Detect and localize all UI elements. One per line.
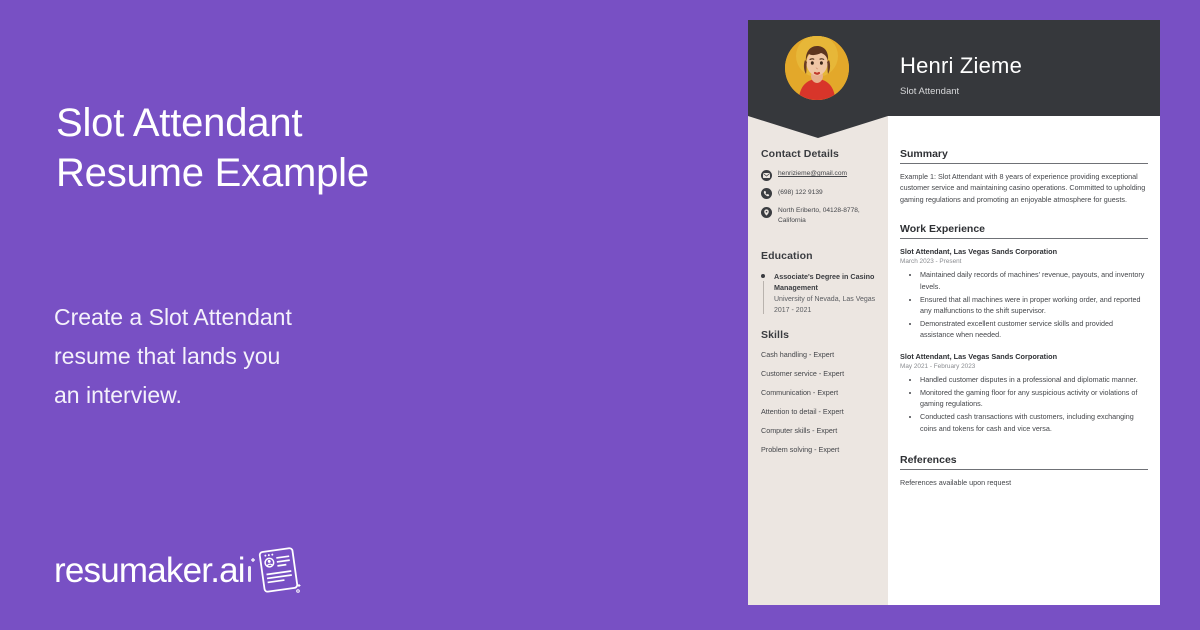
- envelope-icon: [761, 170, 772, 181]
- contact-email-value[interactable]: henrizieme@gmail.com: [778, 169, 847, 179]
- work-experience-entry: Slot Attendant, Las Vegas Sands Corporat…: [900, 246, 1148, 340]
- logo-wordmark: resumaker.ai: [54, 553, 245, 588]
- education-school: University of Nevada, Las Vegas: [774, 294, 879, 305]
- job-bullet: Handled customer disputes in a professio…: [920, 374, 1148, 385]
- education-entry: Associate's Degree in Casino Management …: [761, 271, 879, 316]
- skill-item: Customer service - Expert: [761, 369, 879, 379]
- education-dates: 2017 - 2021: [774, 305, 879, 316]
- resume-name: Henri Zieme: [900, 53, 1022, 79]
- contact-address-value: North Eriberto, 04128-8778, California: [778, 206, 879, 226]
- job-dates: March 2023 - Present: [900, 257, 1148, 267]
- summary-text: Example 1: Slot Attendant with 8 years o…: [900, 171, 1148, 205]
- skill-item: Attention to detail - Expert: [761, 407, 879, 417]
- skill-item: Problem solving - Expert: [761, 445, 879, 455]
- job-bullet: Monitored the gaming floor for any suspi…: [920, 387, 1148, 410]
- contact-email-row[interactable]: henrizieme@gmail.com: [761, 169, 879, 181]
- job-bullet: Demonstrated excellent customer service …: [920, 318, 1148, 341]
- summary-heading: Summary: [900, 148, 1148, 160]
- resume-sidebar-content: Contact Details henrizieme@gmail.com (69…: [761, 148, 879, 464]
- references-text: References available upon request: [900, 477, 1148, 488]
- skill-item: Cash handling - Expert: [761, 350, 879, 360]
- page-title: Slot Attendant Resume Example: [56, 98, 476, 198]
- resume-role: Slot Attendant: [900, 86, 959, 97]
- references-heading: References: [900, 454, 1148, 466]
- resume-document-icon: [248, 544, 304, 596]
- education-heading: Education: [761, 250, 879, 262]
- job-title: Slot Attendant, Las Vegas Sands Corporat…: [900, 351, 1148, 362]
- job-bullet-list: Maintained daily records of machines' re…: [900, 269, 1148, 340]
- contact-phone-value: (698) 122 9139: [778, 188, 823, 198]
- resume-main-content: Summary Example 1: Slot Attendant with 8…: [900, 148, 1148, 488]
- skill-item: Communication - Expert: [761, 388, 879, 398]
- contact-details-heading: Contact Details: [761, 148, 879, 160]
- bullet-dot-icon: [761, 274, 765, 278]
- job-bullet: Ensured that all machines were in proper…: [920, 294, 1148, 317]
- contact-phone-row: (698) 122 9139: [761, 188, 879, 200]
- resumaker-logo[interactable]: resumaker.ai: [54, 545, 304, 595]
- timeline-line: [763, 281, 764, 314]
- resume-preview-card[interactable]: Henri Zieme Slot Attendant Contact Detai…: [748, 20, 1160, 605]
- section-divider: [900, 163, 1148, 164]
- job-bullet-list: Handled customer disputes in a professio…: [900, 374, 1148, 434]
- job-bullet: Maintained daily records of machines' re…: [920, 269, 1148, 292]
- job-dates: May 2021 - February 2023: [900, 362, 1148, 372]
- work-experience-entry: Slot Attendant, Las Vegas Sands Corporat…: [900, 351, 1148, 434]
- skills-heading: Skills: [761, 329, 879, 341]
- promo-panel: Slot Attendant Resume Example Create a S…: [0, 0, 748, 630]
- education-degree: Associate's Degree in Casino Management: [774, 271, 879, 293]
- contact-address-row: North Eriberto, 04128-8778, California: [761, 206, 879, 226]
- avatar: [785, 36, 849, 100]
- promo-subtitle: Create a Slot Attendant resume that land…: [54, 298, 414, 415]
- location-pin-icon: [761, 207, 772, 218]
- work-experience-heading: Work Experience: [900, 223, 1148, 235]
- job-title: Slot Attendant, Las Vegas Sands Corporat…: [900, 246, 1148, 257]
- section-divider: [900, 238, 1148, 239]
- promo-banner: Slot Attendant Resume Example Create a S…: [0, 0, 1200, 630]
- job-bullet: Conducted cash transactions with custome…: [920, 411, 1148, 434]
- section-divider: [900, 469, 1148, 470]
- skill-item: Computer skills - Expert: [761, 426, 879, 436]
- phone-icon: [761, 188, 772, 199]
